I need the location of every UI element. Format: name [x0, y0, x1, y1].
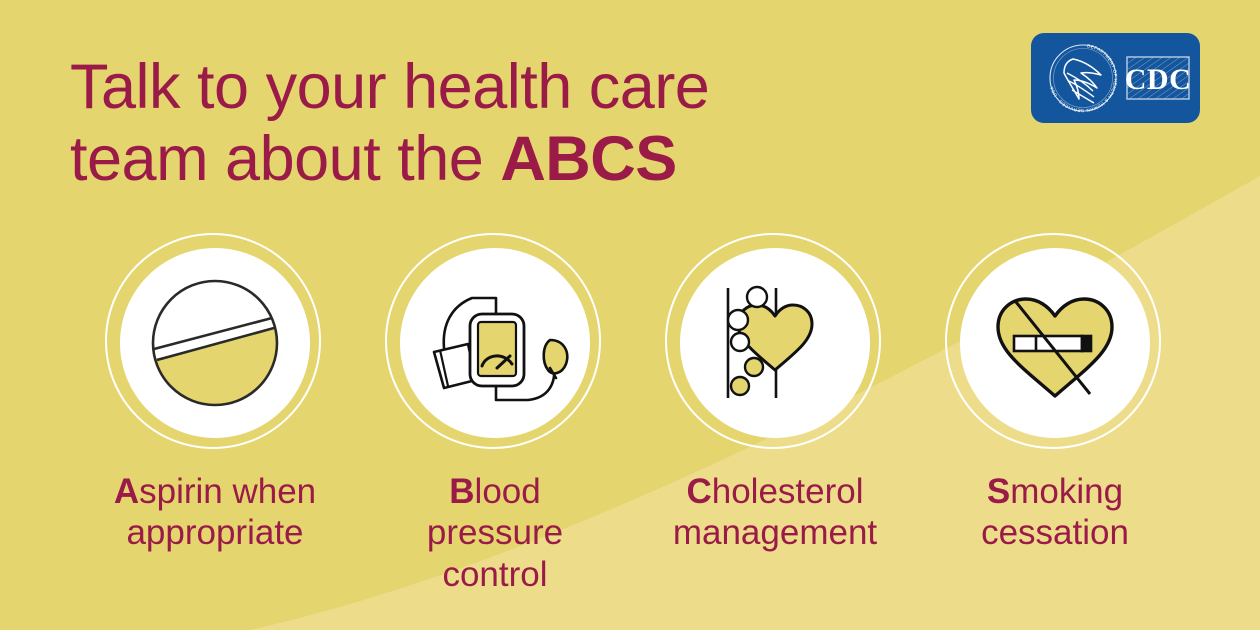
caption-rest: spirin when [139, 472, 316, 511]
cdc-logo[interactable]: DEPARTMENT OF HEALTH & HUMAN SERVICES · … [1031, 33, 1200, 123]
item-smoking[interactable]: Smokingcessation [915, 233, 1195, 554]
caption-smoking: Smokingcessation [915, 471, 1195, 554]
headline-line-1: Talk to your health care [70, 52, 709, 122]
icon-circle-cholesterol [665, 233, 885, 453]
caption-rest: moking [1010, 472, 1123, 511]
caption-lead-letter: S [987, 472, 1010, 511]
caption-line-2: appropriate [126, 513, 303, 552]
caption-line-2: management [673, 513, 877, 552]
abcs-items: Aspirin whenappropriate [0, 233, 1260, 630]
caption-lead-letter: B [449, 472, 474, 511]
item-cholesterol[interactable]: Cholesterolmanagement [635, 233, 915, 554]
no-smoking-heart-icon [960, 248, 1150, 438]
cigarette-tip [1082, 336, 1091, 351]
abcs-infographic: Talk to your health care team about the … [0, 0, 1260, 630]
item-aspirin[interactable]: Aspirin whenappropriate [75, 233, 355, 554]
caption-rest: lood [475, 472, 541, 511]
page-title: Talk to your health care team about the … [70, 52, 900, 196]
cdc-logo-artwork: DEPARTMENT OF HEALTH & HUMAN SERVICES · … [1031, 33, 1200, 123]
caption-cholesterol: Cholesterolmanagement [635, 471, 915, 554]
blood-pressure-cuff-icon [400, 248, 590, 438]
cdc-wordmark-box: CDC [1125, 57, 1192, 99]
caption-line-2: pressure [427, 513, 563, 552]
caption-blood-pressure: Bloodpressurecontrol [355, 471, 635, 595]
icon-circle-blood-pressure [385, 233, 605, 453]
headline-abcs: ABCS [500, 124, 677, 194]
pill-icon [120, 248, 310, 438]
caption-line-3: control [442, 555, 547, 594]
caption-rest: holesterol [712, 472, 864, 511]
svg-text:CDC: CDC [1125, 63, 1192, 96]
icon-circle-aspirin [105, 233, 325, 453]
icon-circle-smoking [945, 233, 1165, 453]
caption-lead-letter: C [686, 472, 711, 511]
headline-line-2-prefix: team about the [70, 124, 500, 194]
hhs-seal-icon: DEPARTMENT OF HEALTH & HUMAN SERVICES · … [1049, 43, 1118, 113]
caption-line-2: cessation [981, 513, 1129, 552]
item-blood-pressure[interactable]: Bloodpressurecontrol [355, 233, 635, 595]
artery-heart-icon [680, 248, 870, 438]
squeeze-bulb [544, 340, 567, 373]
caption-lead-letter: A [114, 472, 139, 511]
caption-aspirin: Aspirin whenappropriate [75, 471, 355, 554]
